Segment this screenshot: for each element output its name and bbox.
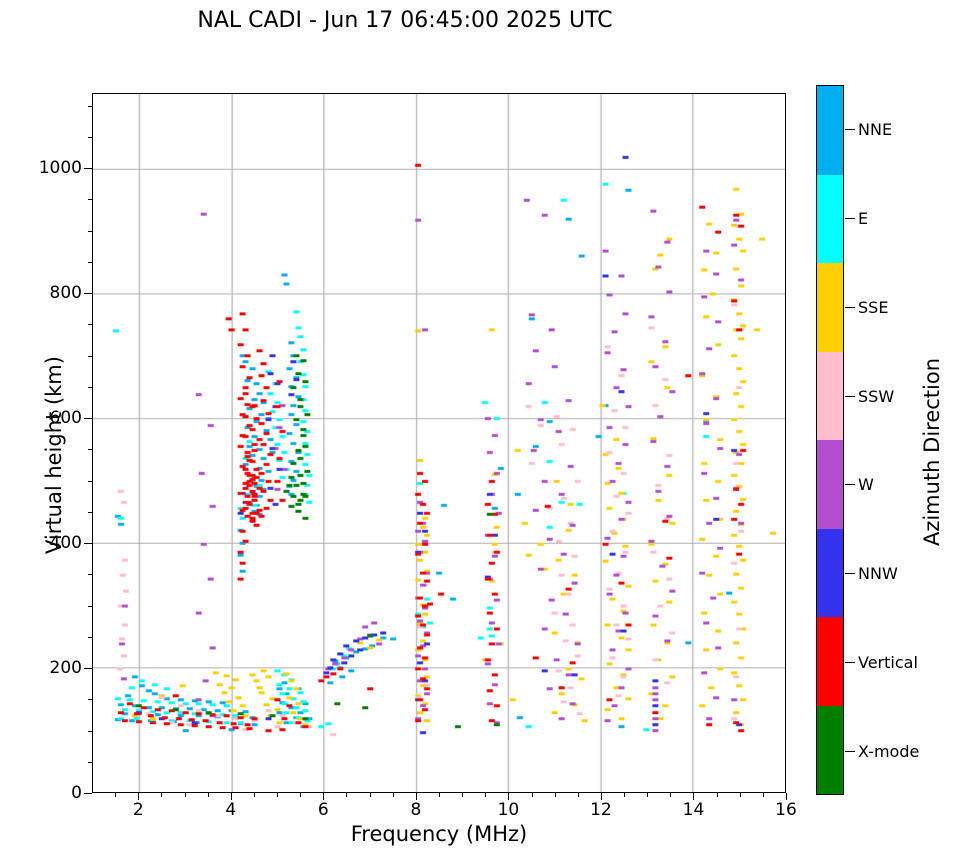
ionogram-scatter-canvas [93, 94, 785, 792]
colorbar-label-nnw: NNW [858, 564, 898, 583]
x-tick-mark [508, 793, 509, 800]
colorbar-tick [845, 396, 855, 397]
x-minor-tick [763, 793, 764, 797]
page-title: NAL CADI - Jun 17 06:45:00 2025 UTC [0, 8, 810, 33]
colorbar-label: Azimuth Direction [920, 302, 944, 602]
y-axis-label: Virtual height (km) [42, 305, 66, 605]
colorbar-label-sse: SSE [858, 298, 888, 317]
y-minor-tick [88, 106, 92, 107]
x-minor-tick [115, 793, 116, 797]
colorbar-tick [845, 573, 855, 574]
x-tick-mark [786, 793, 787, 800]
ionogram-plot-page: NAL CADI - Jun 17 06:45:00 2025 UTC 0200… [0, 0, 958, 857]
x-tick-mark [601, 793, 602, 800]
azimuth-colorbar[interactable] [816, 85, 844, 795]
x-minor-tick [185, 793, 186, 797]
y-minor-tick [88, 262, 92, 263]
x-minor-tick [462, 793, 463, 797]
x-tick-mark [693, 793, 694, 800]
y-minor-tick [88, 356, 92, 357]
y-minor-tick [88, 137, 92, 138]
plot-area [92, 93, 786, 793]
y-minor-tick [88, 606, 92, 607]
x-tick-label: 10 [478, 800, 538, 820]
colorbar-tick [845, 662, 855, 663]
x-minor-tick [208, 793, 209, 797]
x-minor-tick [740, 793, 741, 797]
x-tick-label: 4 [201, 800, 261, 820]
colorbar-segment-sse[interactable] [817, 263, 843, 352]
y-minor-tick [88, 512, 92, 513]
y-tick-mark [84, 543, 92, 544]
x-minor-tick [277, 793, 278, 797]
y-tick-mark [84, 668, 92, 669]
y-minor-tick [88, 449, 92, 450]
y-minor-tick [88, 762, 92, 763]
y-tick-label: 800 [0, 283, 82, 303]
x-tick-mark [231, 793, 232, 800]
colorbar-label-nne: NNE [858, 120, 892, 139]
x-tick-mark [323, 793, 324, 800]
y-tick-mark [84, 293, 92, 294]
x-tick-mark [138, 793, 139, 800]
colorbar-tick [845, 307, 855, 308]
colorbar-label-ssw: SSW [858, 387, 894, 406]
x-minor-tick [254, 793, 255, 797]
colorbar-tick [845, 218, 855, 219]
y-tick-label: 600 [0, 408, 82, 428]
x-tick-label: 12 [571, 800, 631, 820]
x-tick-label: 16 [756, 800, 816, 820]
y-minor-tick [88, 231, 92, 232]
x-minor-tick [370, 793, 371, 797]
y-minor-tick [88, 481, 92, 482]
y-minor-tick [88, 731, 92, 732]
colorbar-tick [845, 751, 855, 752]
colorbar-label-x-mode: X-mode [858, 742, 919, 761]
x-minor-tick [555, 793, 556, 797]
y-minor-tick [88, 637, 92, 638]
colorbar-tick [845, 484, 855, 485]
colorbar-label-w: W [858, 475, 874, 494]
x-tick-label: 2 [108, 800, 168, 820]
y-tick-label: 400 [0, 533, 82, 553]
x-tick-label: 14 [663, 800, 723, 820]
x-tick-mark [416, 793, 417, 800]
colorbar-segment-nnw[interactable] [817, 529, 843, 618]
y-tick-label: 0 [0, 783, 82, 803]
x-minor-tick [670, 793, 671, 797]
x-minor-tick [300, 793, 301, 797]
y-tick-label: 1000 [0, 158, 82, 178]
y-tick-mark [84, 418, 92, 419]
y-minor-tick [88, 699, 92, 700]
y-tick-mark [84, 793, 92, 794]
y-minor-tick [88, 574, 92, 575]
y-tick-mark [84, 168, 92, 169]
x-tick-label: 6 [293, 800, 353, 820]
y-minor-tick [88, 387, 92, 388]
x-minor-tick [161, 793, 162, 797]
colorbar-segment-nne[interactable] [817, 86, 843, 175]
x-tick-label: 8 [386, 800, 446, 820]
x-minor-tick [717, 793, 718, 797]
colorbar-label-e: E [858, 209, 868, 228]
colorbar-segment-e[interactable] [817, 175, 843, 264]
y-minor-tick [88, 199, 92, 200]
x-minor-tick [439, 793, 440, 797]
x-minor-tick [346, 793, 347, 797]
x-minor-tick [393, 793, 394, 797]
colorbar-segment-w[interactable] [817, 440, 843, 529]
x-minor-tick [485, 793, 486, 797]
y-tick-label: 200 [0, 658, 82, 678]
colorbar-tick [845, 129, 855, 130]
colorbar-segment-x-mode[interactable] [817, 706, 843, 795]
x-axis-label: Frequency (MHz) [92, 822, 786, 846]
colorbar-segment-vertical[interactable] [817, 617, 843, 706]
x-minor-tick [624, 793, 625, 797]
y-minor-tick [88, 324, 92, 325]
x-minor-tick [532, 793, 533, 797]
x-minor-tick [647, 793, 648, 797]
colorbar-label-vertical: Vertical [858, 653, 918, 672]
colorbar-segment-ssw[interactable] [817, 352, 843, 441]
x-minor-tick [578, 793, 579, 797]
